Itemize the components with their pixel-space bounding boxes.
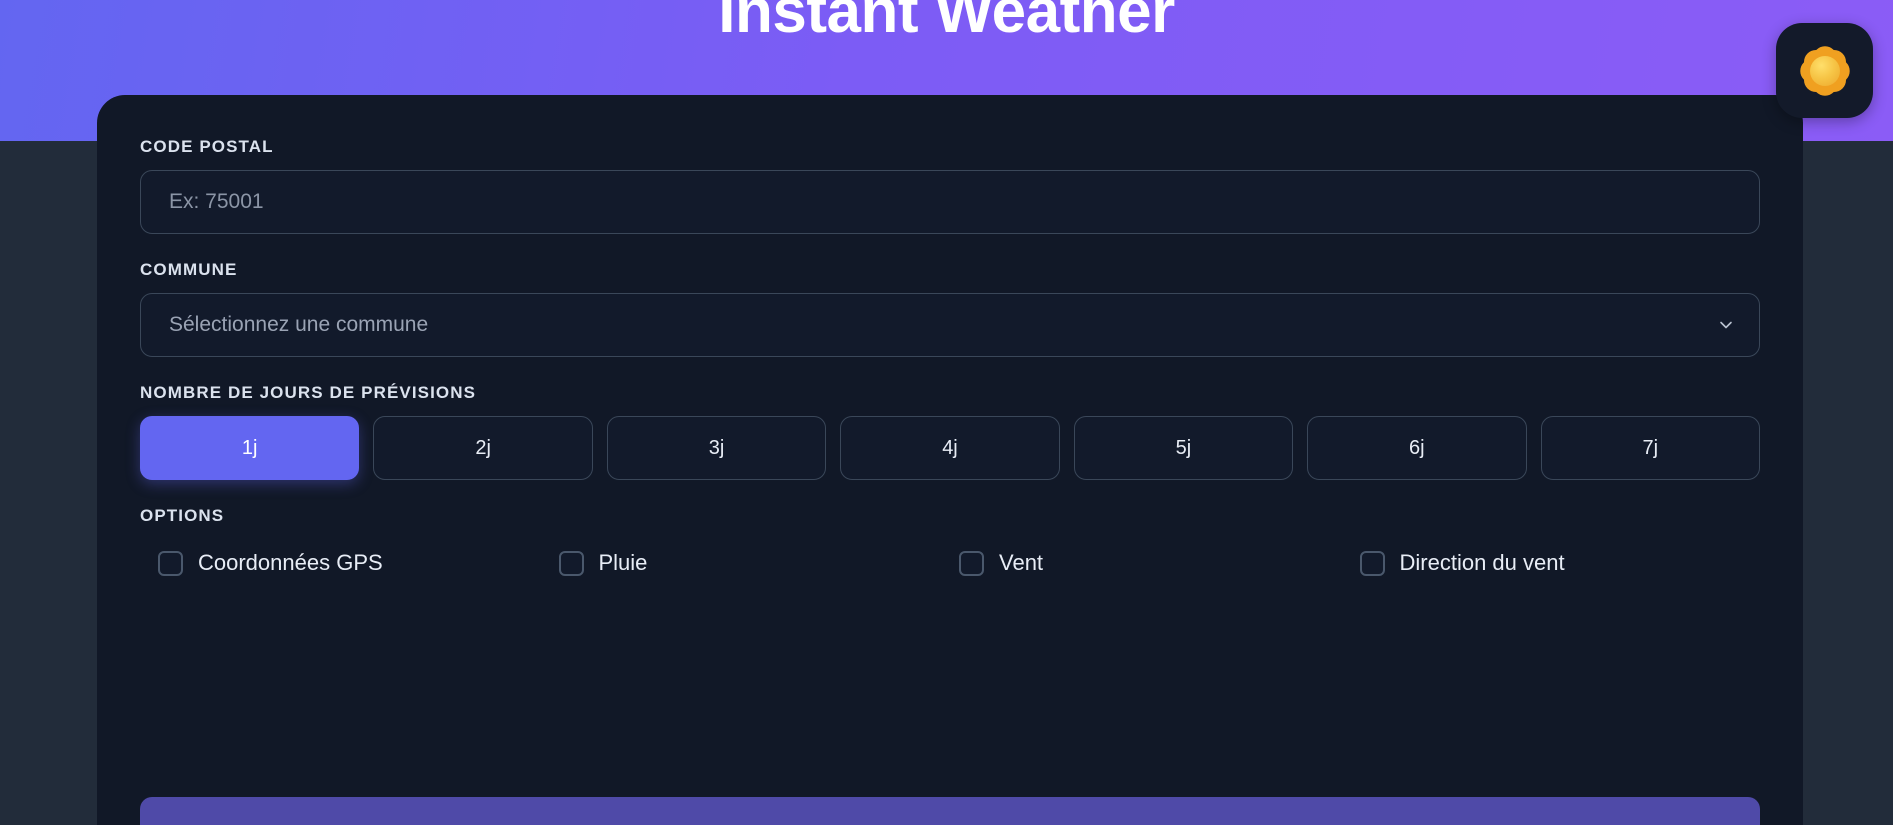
postal-code-field-group: CODE POSTAL xyxy=(140,137,1760,234)
commune-field-group: COMMUNE Sélectionnez une commune xyxy=(140,260,1760,357)
commune-label: COMMUNE xyxy=(140,260,1760,280)
sun-icon xyxy=(1804,50,1846,92)
postal-code-label: CODE POSTAL xyxy=(140,137,1760,157)
commune-select-wrapper: Sélectionnez une commune xyxy=(140,293,1760,357)
forecast-days-row: 1j 2j 3j 4j 5j 6j 7j xyxy=(140,416,1760,480)
option-wind[interactable]: Vent xyxy=(959,550,1360,576)
submit-button[interactable] xyxy=(140,797,1760,825)
checkbox-rain[interactable] xyxy=(559,551,584,576)
day-button-3j[interactable]: 3j xyxy=(607,416,826,480)
forecast-days-field-group: NOMBRE DE JOURS DE PRÉVISIONS 1j 2j 3j 4… xyxy=(140,383,1760,480)
day-button-1j[interactable]: 1j xyxy=(140,416,359,480)
option-label-wind-direction: Direction du vent xyxy=(1400,550,1565,576)
options-field-group: OPTIONS Coordonnées GPS Pluie Vent Direc… xyxy=(140,506,1760,576)
weather-form-card: CODE POSTAL COMMUNE Sélectionnez une com… xyxy=(97,95,1803,825)
checkbox-wind[interactable] xyxy=(959,551,984,576)
option-label-rain: Pluie xyxy=(599,550,648,576)
checkbox-wind-direction[interactable] xyxy=(1360,551,1385,576)
option-wind-direction[interactable]: Direction du vent xyxy=(1360,550,1761,576)
option-rain[interactable]: Pluie xyxy=(559,550,960,576)
commune-select[interactable]: Sélectionnez une commune xyxy=(140,293,1760,357)
options-label: OPTIONS xyxy=(140,506,1760,526)
option-label-wind: Vent xyxy=(999,550,1043,576)
theme-toggle-button[interactable] xyxy=(1776,23,1873,118)
postal-code-input[interactable] xyxy=(140,170,1760,234)
day-button-7j[interactable]: 7j xyxy=(1541,416,1760,480)
options-row: Coordonnées GPS Pluie Vent Direction du … xyxy=(140,550,1760,576)
day-button-4j[interactable]: 4j xyxy=(840,416,1059,480)
option-label-gps: Coordonnées GPS xyxy=(198,550,383,576)
day-button-6j[interactable]: 6j xyxy=(1307,416,1526,480)
day-button-2j[interactable]: 2j xyxy=(373,416,592,480)
checkbox-gps[interactable] xyxy=(158,551,183,576)
day-button-5j[interactable]: 5j xyxy=(1074,416,1293,480)
sun-disc xyxy=(1810,56,1840,86)
forecast-days-label: NOMBRE DE JOURS DE PRÉVISIONS xyxy=(140,383,1760,403)
option-gps[interactable]: Coordonnées GPS xyxy=(158,550,559,576)
page-title: Instant Weather xyxy=(0,0,1893,46)
